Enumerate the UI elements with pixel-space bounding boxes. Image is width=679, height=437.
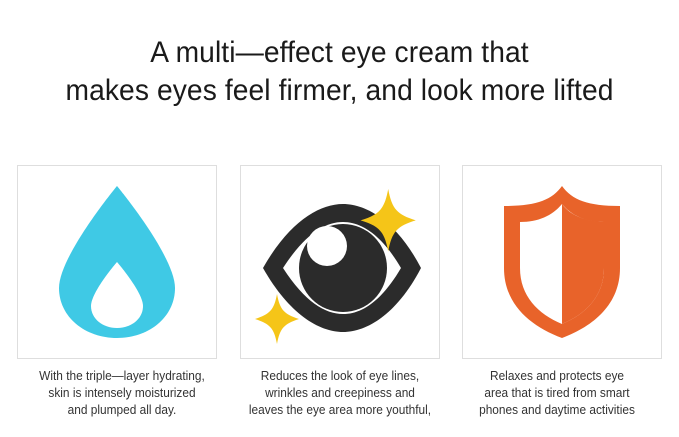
caption-hydration-line-3: and plumped all day. — [22, 402, 222, 419]
feature-panel-wrinkles — [240, 165, 440, 359]
feature-panel-protection — [462, 165, 662, 359]
shield-icon — [477, 178, 647, 346]
page-title: A multi—effect eye cream that makes eyes… — [20, 34, 658, 110]
headline-line-2: makes eyes feel firmer, and look more li… — [20, 72, 658, 110]
caption-wrinkles: Reduces the look of eye lines, wrinkles … — [240, 368, 440, 419]
water-droplet-icon — [32, 178, 202, 346]
caption-wrinkles-line-2: wrinkles and creepiness and — [240, 385, 440, 402]
caption-protection-line-1: Relaxes and protects eye — [457, 368, 657, 385]
headline-line-1: A multi—effect eye cream that — [20, 34, 658, 72]
caption-wrinkles-line-1: Reduces the look of eye lines, — [240, 368, 440, 385]
caption-protection-line-3: phones and daytime activities — [457, 402, 657, 419]
caption-hydration-line-2: skin is intensely moisturized — [22, 385, 222, 402]
caption-hydration: With the triple—layer hydrating, skin is… — [22, 368, 222, 419]
product-feature-banner: A multi—effect eye cream that makes eyes… — [0, 0, 679, 437]
feature-panels — [17, 165, 662, 359]
eye-with-sparkles-icon — [255, 178, 425, 346]
caption-wrinkles-line-3: leaves the eye area more youthful, — [240, 402, 440, 419]
caption-protection-line-2: area that is tired from smart — [457, 385, 657, 402]
caption-hydration-line-1: With the triple—layer hydrating, — [22, 368, 222, 385]
feature-captions: With the triple—layer hydrating, skin is… — [17, 368, 662, 419]
caption-protection: Relaxes and protects eye area that is ti… — [457, 368, 657, 419]
feature-panel-hydration — [17, 165, 217, 359]
